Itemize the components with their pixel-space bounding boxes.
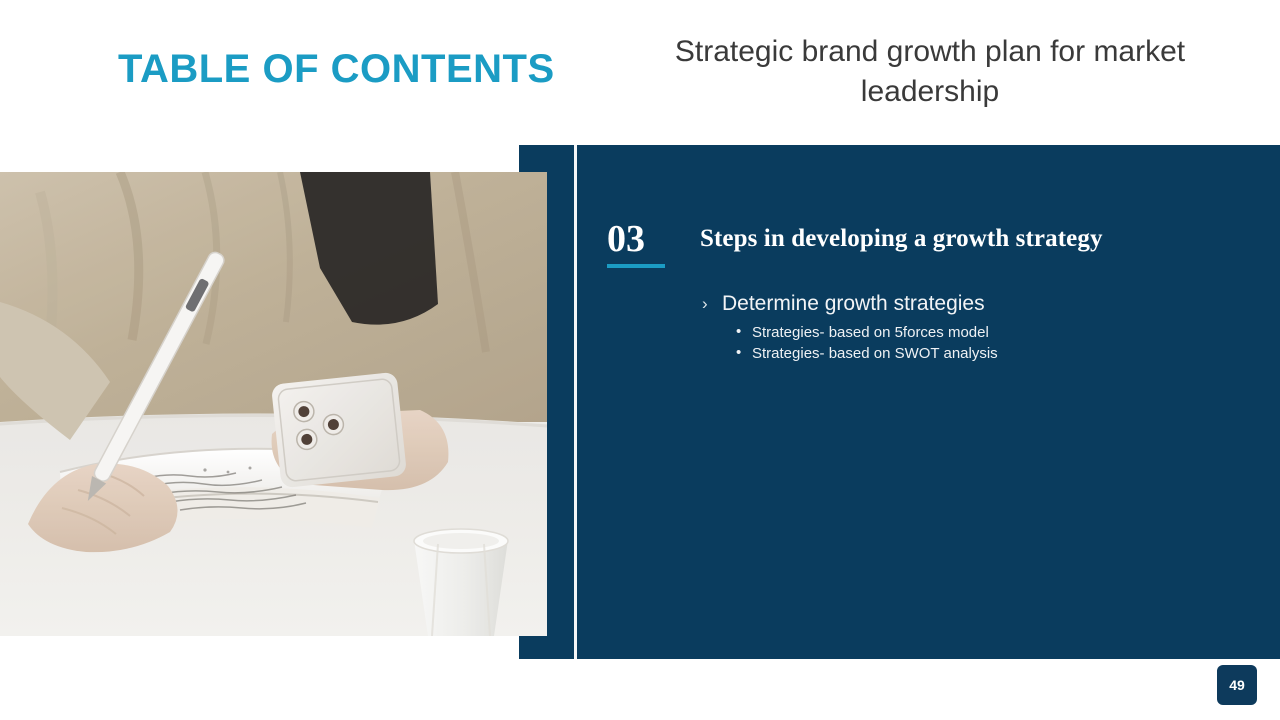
- slide-root: TABLE OF CONTENTS Strategic brand growth…: [0, 0, 1280, 720]
- section-number-underline: [607, 264, 665, 268]
- section-number: 03: [607, 218, 669, 260]
- photo-notebook-phone: [0, 172, 547, 636]
- section-number-block: 03: [607, 218, 669, 268]
- list-item: • Strategies- based on SWOT analysis: [734, 343, 1200, 364]
- bullet-dot-icon: •: [736, 321, 741, 342]
- list-item-label: Strategies- based on 5forces model: [752, 324, 989, 341]
- chevron-right-icon: ›: [702, 290, 708, 318]
- panel-divider: [574, 145, 577, 659]
- list-item: • Strategies- based on 5forces model: [734, 322, 1200, 343]
- bullet-dot-icon: •: [736, 342, 741, 363]
- section-heading: Steps in developing a growth strategy: [700, 225, 1220, 253]
- list-item-label: Strategies- based on SWOT analysis: [752, 345, 998, 362]
- page-number-badge: 49: [1217, 665, 1257, 705]
- deck-title: Strategic brand growth plan for market l…: [660, 32, 1200, 112]
- list-item-label: Determine growth strategies: [722, 292, 985, 315]
- list-item: › Determine growth strategies: [700, 290, 1200, 318]
- page-title: TABLE OF CONTENTS: [118, 47, 555, 92]
- bullet-list: › Determine growth strategies • Strategi…: [700, 290, 1200, 364]
- sub-bullet-list: • Strategies- based on 5forces model • S…: [700, 322, 1200, 364]
